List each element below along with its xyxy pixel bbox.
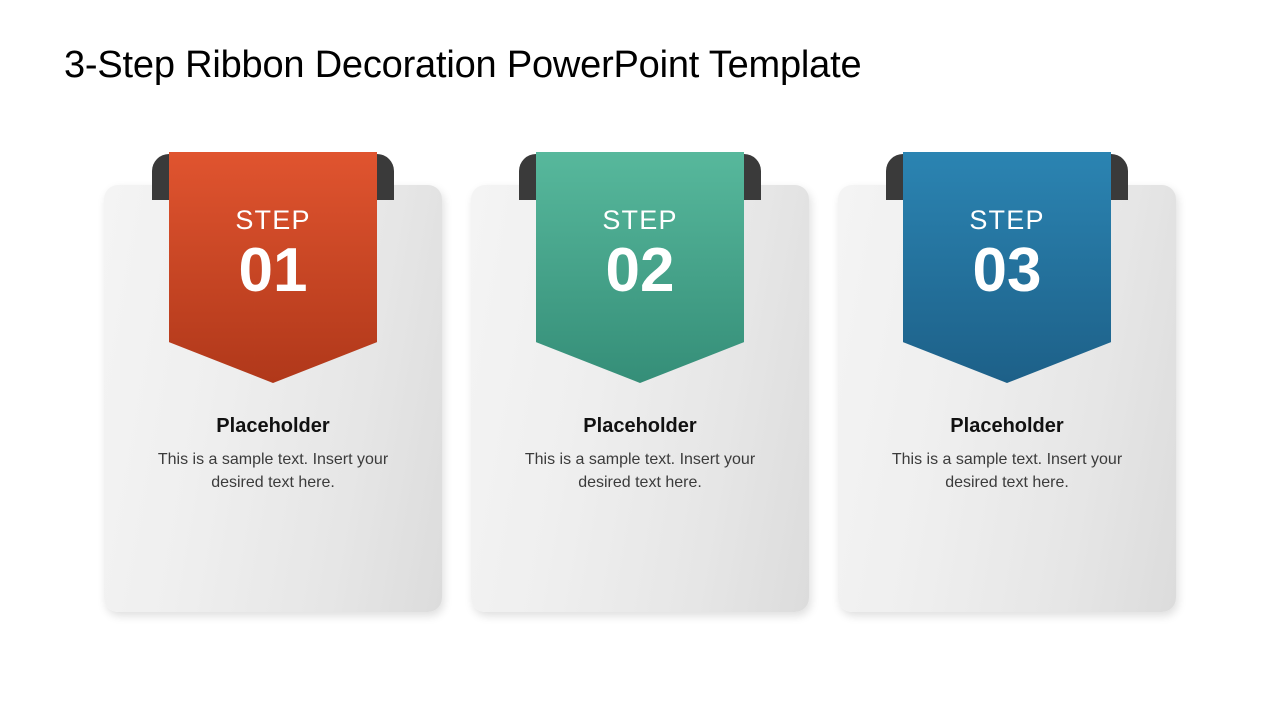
step-heading-3: Placeholder (856, 415, 1158, 438)
ribbon-banner-2: STEP 02 (536, 152, 744, 383)
step-number-1: 01 (169, 240, 377, 302)
page-title: 3-Step Ribbon Decoration PowerPoint Temp… (64, 44, 861, 87)
step-heading-1: Placeholder (122, 415, 424, 438)
step-card-3[interactable]: STEP 03 Placeholder This is a sample tex… (838, 152, 1176, 622)
step-heading-2: Placeholder (489, 415, 791, 438)
step-card-2[interactable]: STEP 02 Placeholder This is a sample tex… (471, 152, 809, 622)
step-number-3: 03 (903, 240, 1111, 302)
step-description-2: This is a sample text. Insert your desir… (489, 448, 791, 494)
slide-canvas: 3-Step Ribbon Decoration PowerPoint Temp… (0, 0, 1280, 720)
step-content-2: Placeholder This is a sample text. Inser… (489, 415, 791, 494)
step-content-1: Placeholder This is a sample text. Inser… (122, 415, 424, 494)
step-description-3: This is a sample text. Insert your desir… (856, 448, 1158, 494)
steps-container: STEP 01 Placeholder This is a sample tex… (104, 152, 1176, 622)
step-description-1: This is a sample text. Insert your desir… (122, 448, 424, 494)
step-number-2: 02 (536, 240, 744, 302)
step-label-2: STEP (536, 205, 744, 236)
step-content-3: Placeholder This is a sample text. Inser… (856, 415, 1158, 494)
step-card-1[interactable]: STEP 01 Placeholder This is a sample tex… (104, 152, 442, 622)
step-label-1: STEP (169, 205, 377, 236)
ribbon-banner-1: STEP 01 (169, 152, 377, 383)
ribbon-banner-3: STEP 03 (903, 152, 1111, 383)
step-label-3: STEP (903, 205, 1111, 236)
